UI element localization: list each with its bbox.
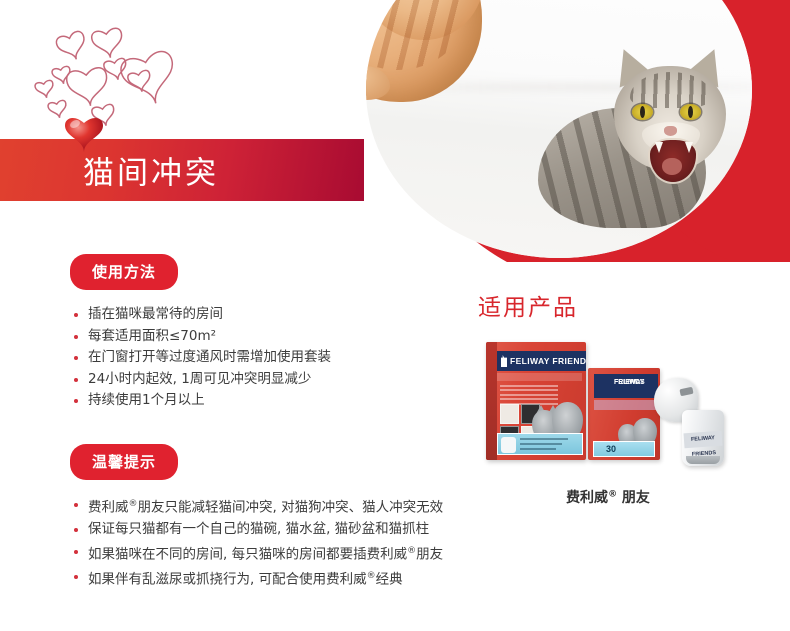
product-caption: 费利威® 朋友 xyxy=(478,487,738,507)
bottle-label: FELIWAY FRIENDS xyxy=(684,431,723,449)
list-item: 保证每只猫都有一个自己的猫碗, 猫水盆, 猫砂盆和猫抓柱 xyxy=(72,519,550,541)
page-title: 猫间冲突 xyxy=(83,148,219,193)
ginger-cat-image xyxy=(366,0,520,101)
hero-banner xyxy=(0,0,790,262)
box-starter-kit-strip xyxy=(497,433,583,455)
refill-subtitle-band xyxy=(594,400,658,410)
warm-tips-pill: 温馨提示 xyxy=(70,444,178,480)
list-item: 如果猫咪在不同的房间, 每只猫咪的房间都要插费利威®朋友 xyxy=(72,541,550,566)
diffuser-device: FELIWAY FRIENDS xyxy=(654,372,728,470)
hero-photo xyxy=(366,0,752,258)
usage-method-list: 插在猫咪最常待的房间 每套适用面积≤70m² 在门窗打开等过度通风时需增加使用套… xyxy=(72,304,460,412)
box-spine xyxy=(486,342,497,460)
hissing-tabby-cat-image xyxy=(538,50,748,258)
list-item: 24小时内起效, 1周可见冲突明显减少 xyxy=(72,369,460,391)
box-brand-text: FELIWAY FRIENDS xyxy=(497,356,586,366)
diffuser-bottle: FELIWAY FRIENDS xyxy=(682,410,724,466)
refill-days-badge: 30 xyxy=(593,441,655,457)
products-heading: 适用产品 xyxy=(478,288,778,322)
diffuser-thumb-icon xyxy=(501,437,516,453)
box-subtitle-band xyxy=(497,373,582,381)
feliway-friends-box-large: FELIWAY FRIENDS xyxy=(486,342,586,460)
usage-method-pill: 使用方法 xyxy=(70,254,178,290)
list-item: 在门窗打开等过度通风时需增加使用套装 xyxy=(72,347,460,369)
feliway-friends-box-refill: FELIWAY FRIENDS 30 xyxy=(588,368,660,460)
warm-tips-list: 费利威®朋友只能减轻猫间冲突, 对猫狗冲突、猫人冲突无效 保证每只猫都有一个自己… xyxy=(72,494,550,591)
bottle-cap xyxy=(686,456,720,464)
section-usage-method: 使用方法 插在猫咪最常待的房间 每套适用面积≤70m² 在门窗打开等过度通风时需… xyxy=(70,254,460,412)
solid-heart-icon xyxy=(62,113,106,153)
product-images: FELIWAY FRIENDS xyxy=(478,342,738,477)
page-title-banner: 猫间冲突 xyxy=(0,139,364,201)
hearts-svg xyxy=(0,0,300,150)
list-item: 每套适用面积≤70m² xyxy=(72,326,460,348)
section-applicable-products: 适用产品 FELIWAY FRIENDS xyxy=(478,288,778,507)
box-header-bar: FELIWAY FRIENDS xyxy=(497,351,586,371)
floating-hearts-decoration xyxy=(0,0,300,150)
list-item: 插在猫咪最常待的房间 xyxy=(72,304,460,326)
list-item: 持续使用1个月以上 xyxy=(72,390,460,412)
refill-header-bar: FELIWAY FRIENDS xyxy=(594,374,658,398)
list-item: 如果伴有乱滋尿或抓挠行为, 可配合使用费利威®经典 xyxy=(72,566,550,591)
